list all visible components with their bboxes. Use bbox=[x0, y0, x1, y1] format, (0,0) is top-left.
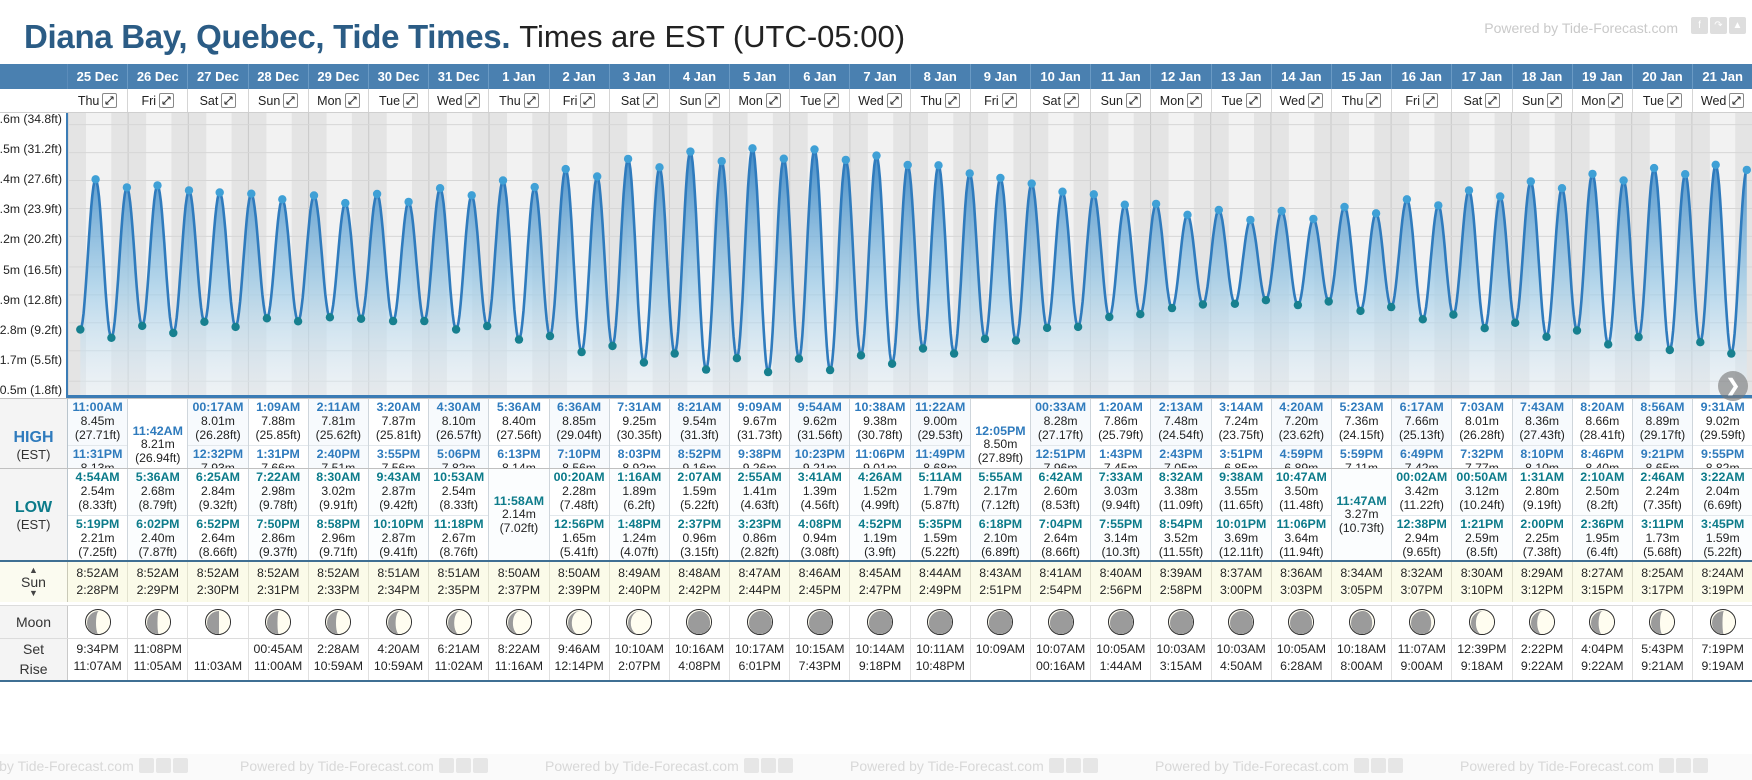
tide-time: 5:36AM bbox=[489, 401, 548, 415]
tide-height-feet: (5.68ft) bbox=[1633, 546, 1692, 560]
date-header-cell[interactable]: 11 Jan bbox=[1091, 64, 1151, 89]
tide-entry: 1:20AM7.86m(25.79ft) bbox=[1091, 399, 1150, 445]
moonrise-time: 7:43PM bbox=[790, 658, 849, 675]
moonset-time: 4:20AM bbox=[369, 641, 428, 658]
expand-icon[interactable] bbox=[1547, 93, 1562, 108]
tide-entry: 9:43AM2.87m(9.42ft) bbox=[369, 469, 428, 515]
tide-height-metres: 2.67m bbox=[429, 532, 488, 546]
weekday-label: Fri bbox=[563, 94, 578, 108]
tide-height-feet: (7.12ft) bbox=[971, 499, 1030, 513]
tide-height-feet: (10.24ft) bbox=[1452, 499, 1511, 513]
tide-time: 10:53AM bbox=[429, 471, 488, 485]
date-header-cell[interactable]: 21 Jan bbox=[1693, 64, 1752, 89]
date-header-cell[interactable]: 17 Jan bbox=[1452, 64, 1512, 89]
tide-time: 7:43AM bbox=[1513, 401, 1572, 415]
tide-entry: 9:38AM3.55m(11.65ft) bbox=[1212, 469, 1271, 515]
sun-cell: 8:25AM3:17PM bbox=[1633, 562, 1693, 602]
moon-phase-cell bbox=[1573, 606, 1633, 638]
tide-time: 12:32PM bbox=[188, 448, 247, 462]
tide-height-feet: (25.62ft) bbox=[309, 429, 368, 443]
tide-height-metres: 1.19m bbox=[850, 532, 909, 546]
moonset-rise-cell: 10:18AM8:00AM bbox=[1332, 639, 1392, 680]
tide-time: 7:10PM bbox=[550, 448, 609, 462]
tide-time: 11:47AM bbox=[1332, 495, 1391, 509]
weekday-header-cell[interactable]: Tue bbox=[1633, 89, 1693, 112]
tide-entry: 9:54AM9.62m(31.56ft) bbox=[790, 399, 849, 445]
y-axis-tick-label: 3.9m (12.8ft) bbox=[0, 293, 62, 307]
weekday-header-cell[interactable]: Mon bbox=[1151, 89, 1211, 112]
tide-time: 12:51PM bbox=[1031, 448, 1090, 462]
date-header-cell[interactable]: 13 Jan bbox=[1212, 64, 1272, 89]
tide-entry: 10:01PM3.69m(12.11ft) bbox=[1212, 515, 1271, 562]
sunrise-time: 8:49AM bbox=[610, 565, 669, 582]
date-header-cell[interactable]: 20 Jan bbox=[1633, 64, 1693, 89]
tide-height-feet: (11.94ft) bbox=[1272, 546, 1331, 560]
expand-icon[interactable] bbox=[283, 93, 298, 108]
moonrise-time: 9:18AM bbox=[1452, 658, 1511, 675]
tide-time: 7:33AM bbox=[1091, 471, 1150, 485]
moon-phase-icon bbox=[145, 609, 171, 635]
weekday-label: Thu bbox=[499, 94, 521, 108]
weekday-header-cell[interactable]: Thu bbox=[911, 89, 971, 112]
expand-icon[interactable] bbox=[1187, 93, 1202, 108]
footer-watermark-text: Powered by Tide-Forecast.com bbox=[240, 758, 489, 774]
tide-entry: 00:17AM8.01m(26.28ft) bbox=[188, 399, 247, 445]
tide-height-metres: 2.68m bbox=[128, 485, 187, 499]
date-header-cell[interactable]: 26 Dec bbox=[128, 64, 188, 89]
weekday-header-cell[interactable]: Wed bbox=[1693, 89, 1752, 112]
weekday-header-cell[interactable]: Sun bbox=[1091, 89, 1151, 112]
sunrise-time: 8:25AM bbox=[1633, 565, 1692, 582]
date-header-cell[interactable]: 10 Jan bbox=[1031, 64, 1091, 89]
sun-cell: 8:45AM2:47PM bbox=[850, 562, 910, 602]
tide-chart: 10.6m (34.8ft)9.5m (31.2ft)8.4m (27.6ft)… bbox=[0, 113, 1752, 398]
tide-time: 2:10AM bbox=[1573, 471, 1632, 485]
watermark-label: Powered by Tide-Forecast.com bbox=[1155, 758, 1349, 774]
weekday-header-cell[interactable]: Mon bbox=[730, 89, 790, 112]
tide-time: 2:13AM bbox=[1151, 401, 1210, 415]
sun-row-label: ▲ Sun ▼ bbox=[0, 562, 68, 602]
tide-height-metres: 2.98m bbox=[249, 485, 308, 499]
date-header-cell[interactable]: 19 Jan bbox=[1573, 64, 1633, 89]
weekday-header-cell[interactable]: Mon bbox=[309, 89, 369, 112]
moonset-rise-cell: 00:45AM11:00AM bbox=[249, 639, 309, 680]
tide-time: 5:23AM bbox=[1332, 401, 1391, 415]
expand-icon[interactable] bbox=[1002, 93, 1017, 108]
weekday-header-cell[interactable]: Tue bbox=[790, 89, 850, 112]
expand-icon[interactable] bbox=[1667, 93, 1682, 108]
tide-height-metres: 7.48m bbox=[1151, 415, 1210, 429]
tide-time: 8:20AM bbox=[1573, 401, 1632, 415]
tide-height-feet: (3.08ft) bbox=[790, 546, 849, 560]
tide-entry: 2:07AM1.59m(5.22ft) bbox=[670, 469, 729, 515]
tide-height-feet: (7.02ft) bbox=[489, 522, 548, 536]
expand-icon[interactable] bbox=[887, 93, 902, 108]
moonset-label: Set bbox=[23, 639, 44, 659]
low-tide-cell: 9:38AM3.55m(11.65ft)10:01PM3.69m(12.11ft… bbox=[1212, 469, 1272, 562]
moonset-time: 10:11AM bbox=[911, 641, 970, 658]
tide-height-feet: (11.55ft) bbox=[1151, 546, 1210, 560]
sun-cell: 8:51AM2:35PM bbox=[429, 562, 489, 602]
sunset-time: 2:31PM bbox=[249, 582, 308, 599]
tide-time: 8:21AM bbox=[670, 401, 729, 415]
tide-entry: 7:50PM2.86m(9.37ft) bbox=[249, 515, 308, 562]
moon-phase-cell bbox=[670, 606, 730, 638]
tide-height-metres: 2.28m bbox=[550, 485, 609, 499]
moonset-time: 5:43PM bbox=[1633, 641, 1692, 658]
moon-row-label: Moon bbox=[0, 606, 68, 638]
sunrise-time: 8:24AM bbox=[1693, 565, 1752, 582]
tide-entry: 4:20AM7.20m(23.62ft) bbox=[1272, 399, 1331, 445]
expand-icon[interactable] bbox=[766, 93, 781, 108]
sunrise-time: 8:39AM bbox=[1151, 565, 1210, 582]
tide-entry: 6:36AM8.85m(29.04ft) bbox=[550, 399, 609, 445]
tide-height-metres: 8.89m bbox=[1633, 415, 1692, 429]
y-axis-tick-label: 6.2m (20.2ft) bbox=[0, 232, 62, 246]
date-header-cell[interactable]: 31 Dec bbox=[429, 64, 489, 89]
expand-icon[interactable] bbox=[345, 93, 360, 108]
date-header-cell[interactable]: 6 Jan bbox=[790, 64, 850, 89]
weekday-header-cell[interactable]: Sat bbox=[1452, 89, 1512, 112]
tide-time: 7:22AM bbox=[249, 471, 308, 485]
tide-entry: 7:55PM3.14m(10.3ft) bbox=[1091, 515, 1150, 562]
expand-icon[interactable] bbox=[102, 93, 117, 108]
tide-height-metres: 7.87m bbox=[369, 415, 428, 429]
low-tide-cell: 4:26AM1.52m(4.99ft)4:52PM1.19m(3.9ft) bbox=[850, 469, 910, 562]
tide-entry: 10:10PM2.87m(9.41ft) bbox=[369, 515, 428, 562]
tide-entry: 2:13AM7.48m(24.54ft) bbox=[1151, 399, 1210, 445]
weekday-label: Tue bbox=[1222, 94, 1243, 108]
tide-time: 3:55PM bbox=[369, 448, 428, 462]
moonset-time: 10:03AM bbox=[1151, 641, 1210, 658]
weekday-header-cell[interactable]: Wed bbox=[850, 89, 910, 112]
low-tide-cell: 6:25AM2.84m(9.32ft)6:52PM2.64m(8.66ft) bbox=[188, 469, 248, 562]
moon-phase-cell bbox=[1452, 606, 1512, 638]
tide-entry: 1:48PM1.24m(4.07ft) bbox=[610, 515, 669, 562]
date-header-cell[interactable]: 18 Jan bbox=[1513, 64, 1573, 89]
tide-time: 2:43PM bbox=[1151, 448, 1210, 462]
tide-height-metres: 8.01m bbox=[1452, 415, 1511, 429]
tide-height-feet: (29.17ft) bbox=[1633, 429, 1692, 443]
moonset-time: 11:07AM bbox=[1392, 641, 1451, 658]
tide-time: 6:36AM bbox=[550, 401, 609, 415]
sun-cell: 8:41AM2:54PM bbox=[1031, 562, 1091, 602]
date-header-cell[interactable]: 28 Dec bbox=[249, 64, 309, 89]
sunrise-time: 8:29AM bbox=[1513, 565, 1572, 582]
sunset-time: 3:07PM bbox=[1392, 582, 1451, 599]
tide-height-feet: (9.94ft) bbox=[1091, 499, 1150, 513]
date-header-cell[interactable]: 5 Jan bbox=[730, 64, 790, 89]
moon-phase-icon bbox=[386, 609, 412, 635]
tide-height-feet: (2.82ft) bbox=[730, 546, 789, 560]
tide-entry: 3:14AM7.24m(23.75ft) bbox=[1212, 399, 1271, 445]
tide-entry: 9:31AM9.02m(29.59ft) bbox=[1693, 399, 1752, 445]
y-axis-tick-label: 1.7m (5.5ft) bbox=[0, 353, 62, 367]
tide-height-metres: 1.59m bbox=[670, 485, 729, 499]
low-tide-cell: 11:47AM3.27m(10.73ft) bbox=[1332, 469, 1392, 562]
high-timezone-label: (EST) bbox=[17, 447, 51, 462]
weekday-header-cell[interactable]: Thu bbox=[489, 89, 549, 112]
expand-icon[interactable] bbox=[945, 93, 960, 108]
facebook-icon bbox=[1659, 758, 1674, 773]
tide-entry: 8:58PM2.96m(9.71ft) bbox=[309, 515, 368, 562]
moon-phase-icon bbox=[1228, 609, 1254, 635]
moonset-time: 11:08PM bbox=[128, 641, 187, 658]
weekday-header-cell[interactable]: Thu bbox=[68, 89, 128, 112]
moonset-time: 2:28AM bbox=[309, 641, 368, 658]
facebook-icon bbox=[1049, 758, 1064, 773]
chart-plot-area[interactable] bbox=[68, 113, 1752, 398]
weekday-header-cell[interactable]: Sat bbox=[188, 89, 248, 112]
tide-height-feet: (29.53ft) bbox=[911, 429, 970, 443]
tide-time: 8:10PM bbox=[1513, 448, 1572, 462]
tide-time: 8:46PM bbox=[1573, 448, 1632, 462]
tide-entry: 00:50AM3.12m(10.24ft) bbox=[1452, 469, 1511, 515]
moon-phase-icon bbox=[1409, 609, 1435, 635]
moonrise-time: 9:19AM bbox=[1693, 658, 1752, 675]
date-header-cell[interactable]: 7 Jan bbox=[850, 64, 910, 89]
tide-height-feet: (8.53ft) bbox=[1031, 499, 1090, 513]
sun-cell: 8:51AM2:34PM bbox=[369, 562, 429, 602]
tide-height-feet: (30.78ft) bbox=[850, 429, 909, 443]
tide-height-feet: (25.79ft) bbox=[1091, 429, 1150, 443]
tide-time: 8:30AM bbox=[309, 471, 368, 485]
date-header-cell[interactable]: 16 Jan bbox=[1392, 64, 1452, 89]
weekday-header-cell[interactable]: Fri bbox=[1392, 89, 1452, 112]
tide-height-feet: (11.22ft) bbox=[1392, 499, 1451, 513]
weekday-header-cell[interactable]: Sat bbox=[1031, 89, 1091, 112]
date-header-cell[interactable]: 2 Jan bbox=[550, 64, 610, 89]
moonrise-time: 8:00AM bbox=[1332, 658, 1391, 675]
weekday-header-cell[interactable]: Wed bbox=[1272, 89, 1332, 112]
sunrise-time: 8:48AM bbox=[670, 565, 729, 582]
tide-time: 2:55AM bbox=[730, 471, 789, 485]
weekday-header-cell[interactable]: Fri bbox=[128, 89, 188, 112]
weekday-header-cell[interactable]: Sun bbox=[1513, 89, 1573, 112]
low-tide-cell: 6:42AM2.60m(8.53ft)7:04PM2.64m(8.66ft) bbox=[1031, 469, 1091, 562]
date-header-cell[interactable]: 9 Jan bbox=[971, 64, 1031, 89]
date-header-row: 25 Dec26 Dec27 Dec28 Dec29 Dec30 Dec31 D… bbox=[0, 64, 1752, 89]
moon-phase-icon bbox=[1529, 609, 1555, 635]
moonset-time: 10:09AM bbox=[971, 641, 1030, 658]
tide-height-feet: (6.4ft) bbox=[1573, 546, 1632, 560]
date-header-cell[interactable]: 14 Jan bbox=[1272, 64, 1332, 89]
facebook-icon[interactable]: f bbox=[1691, 17, 1708, 34]
moonrise-time: 10:48PM bbox=[911, 658, 970, 675]
date-header-cell[interactable]: 1 Jan bbox=[489, 64, 549, 89]
moon-phase-icon bbox=[1168, 609, 1194, 635]
weekday-header-cell[interactable]: Fri bbox=[971, 89, 1031, 112]
expand-icon[interactable] bbox=[643, 93, 658, 108]
watermark-label: Powered by Tide-Forecast.com bbox=[545, 758, 739, 774]
moon-phase-cell bbox=[1633, 606, 1693, 638]
tide-time: 9:38AM bbox=[1212, 471, 1271, 485]
share-badges[interactable]: f ↷ ▲ bbox=[1691, 17, 1746, 34]
weekday-header-cell[interactable]: Thu bbox=[1332, 89, 1392, 112]
tide-entry: 3:41AM1.39m(4.56ft) bbox=[790, 469, 849, 515]
date-header-cell[interactable]: 30 Dec bbox=[369, 64, 429, 89]
expand-icon[interactable] bbox=[1126, 93, 1141, 108]
tide-height-feet: (27.89ft) bbox=[971, 452, 1030, 466]
weekday-label: Fri bbox=[141, 94, 156, 108]
footer-watermark-text: Powered by Tide-Forecast.com bbox=[1155, 758, 1404, 774]
sunset-time: 2:29PM bbox=[128, 582, 187, 599]
high-label: HIGH bbox=[14, 429, 54, 447]
date-header-cell[interactable]: 3 Jan bbox=[610, 64, 670, 89]
tide-time: 10:38AM bbox=[850, 401, 909, 415]
tide-entry: 10:38AM9.38m(30.78ft) bbox=[850, 399, 909, 445]
low-label: LOW bbox=[15, 499, 52, 517]
weekday-header-cell[interactable]: Tue bbox=[1212, 89, 1272, 112]
low-tide-cell: 00:50AM3.12m(10.24ft)1:21PM2.59m(8.5ft) bbox=[1452, 469, 1512, 562]
moon-phase-cell bbox=[850, 606, 910, 638]
tide-time: 6:49PM bbox=[1392, 448, 1451, 462]
sunset-time: 2:42PM bbox=[670, 582, 729, 599]
moonset-rise-cell: 12:39PM9:18AM bbox=[1452, 639, 1512, 680]
weekday-label: Tue bbox=[800, 94, 821, 108]
expand-icon[interactable] bbox=[159, 93, 174, 108]
tide-height-feet: (5.22ft) bbox=[911, 546, 970, 560]
tide-entry: 6:18PM2.10m(6.89ft) bbox=[971, 515, 1030, 562]
sunset-time: 2:39PM bbox=[550, 582, 609, 599]
tide-time: 4:26AM bbox=[850, 471, 909, 485]
alert-icon[interactable]: ▲ bbox=[1729, 17, 1746, 34]
tide-height-metres: 2.87m bbox=[369, 532, 428, 546]
weekday-header-cell[interactable]: Sun bbox=[670, 89, 730, 112]
expand-icon[interactable] bbox=[1246, 93, 1261, 108]
tide-height-feet: (28.41ft) bbox=[1573, 429, 1632, 443]
sun-cell: 8:39AM2:58PM bbox=[1151, 562, 1211, 602]
low-tide-cell: 2:10AM2.50m(8.2ft)2:36PM1.95m(6.4ft) bbox=[1573, 469, 1633, 562]
tide-height-feet: (8.66ft) bbox=[1031, 546, 1090, 560]
moonset-time: 10:17AM bbox=[730, 641, 789, 658]
moonset-time: 4:04PM bbox=[1573, 641, 1632, 658]
tide-time: 12:56PM bbox=[550, 518, 609, 532]
tide-height-metres: 8.85m bbox=[550, 415, 609, 429]
moon-phase-cell bbox=[1693, 606, 1752, 638]
date-header-cell[interactable]: 12 Jan bbox=[1151, 64, 1211, 89]
tide-time: 7:32PM bbox=[1452, 448, 1511, 462]
tide-height-metres: 7.36m bbox=[1332, 415, 1391, 429]
tide-height-feet: (11.48ft) bbox=[1272, 499, 1331, 513]
tide-height-feet: (4.63ft) bbox=[730, 499, 789, 513]
weekday-label: Sun bbox=[258, 94, 280, 108]
expand-icon[interactable] bbox=[824, 93, 839, 108]
expand-icon[interactable] bbox=[403, 93, 418, 108]
sunset-time: 2:35PM bbox=[429, 582, 488, 599]
moon-phase-icon bbox=[927, 609, 953, 635]
moonrise-time: 4:50AM bbox=[1212, 658, 1271, 675]
weekday-header-cell[interactable]: Sat bbox=[610, 89, 670, 112]
tide-entry: 12:05PM8.50m(27.89ft) bbox=[971, 423, 1030, 469]
tide-height-metres: 7.88m bbox=[249, 415, 308, 429]
tide-time: 9:31AM bbox=[1693, 401, 1752, 415]
expand-icon[interactable] bbox=[705, 93, 720, 108]
tide-height-feet: (31.3ft) bbox=[670, 429, 729, 443]
tide-height-metres: 2.86m bbox=[249, 532, 308, 546]
weekday-label: Mon bbox=[317, 94, 341, 108]
moon-phase-icon bbox=[867, 609, 893, 635]
expand-icon[interactable] bbox=[1308, 93, 1323, 108]
expand-icon[interactable] bbox=[1729, 93, 1744, 108]
sunrise-time: 8:34AM bbox=[1332, 565, 1391, 582]
moonset-rise-cell: 4:20AM10:59AM bbox=[369, 639, 429, 680]
weekday-label: Thu bbox=[920, 94, 942, 108]
weekday-header-cell[interactable]: Tue bbox=[369, 89, 429, 112]
tide-height-feet: (3.15ft) bbox=[670, 546, 729, 560]
tide-height-feet: (27.71ft) bbox=[68, 429, 127, 443]
date-header-cell[interactable]: 29 Dec bbox=[309, 64, 369, 89]
moonrise-time: 6:28AM bbox=[1272, 658, 1331, 675]
weekday-header-cell[interactable]: Sun bbox=[249, 89, 309, 112]
expand-icon[interactable] bbox=[221, 93, 236, 108]
tide-entry: 6:17AM7.66m(25.13ft) bbox=[1392, 399, 1451, 445]
moonset-time: 2:22PM bbox=[1513, 641, 1572, 658]
share-icon bbox=[1066, 758, 1081, 773]
moonset-time: 7:19PM bbox=[1693, 641, 1752, 658]
tide-time: 11:06PM bbox=[850, 448, 909, 462]
tide-time: 00:20AM bbox=[550, 471, 609, 485]
share-icon[interactable]: ↷ bbox=[1710, 17, 1727, 34]
date-header-cell[interactable]: 4 Jan bbox=[670, 64, 730, 89]
expand-icon[interactable] bbox=[465, 93, 480, 108]
moonset-rise-cell: 10:15AM7:43PM bbox=[790, 639, 850, 680]
expand-icon[interactable] bbox=[1608, 93, 1623, 108]
tide-height-metres: 7.86m bbox=[1091, 415, 1150, 429]
date-header-cell[interactable]: 25 Dec bbox=[68, 64, 128, 89]
tide-entry: 11:06PM3.64m(11.94ft) bbox=[1272, 515, 1331, 562]
moonrise-time: 9:00AM bbox=[1392, 658, 1451, 675]
tide-height-feet: (29.59ft) bbox=[1693, 429, 1752, 443]
date-header-cell[interactable]: 27 Dec bbox=[188, 64, 248, 89]
moon-phase-cell bbox=[971, 606, 1031, 638]
sunrise-time: 8:45AM bbox=[850, 565, 909, 582]
moonset-rise-cell: 11:07AM9:00AM bbox=[1392, 639, 1452, 680]
moon-phase-icon bbox=[1108, 609, 1134, 635]
tide-entry: 2:11AM7.81m(25.62ft) bbox=[309, 399, 368, 445]
expand-icon[interactable] bbox=[524, 93, 539, 108]
weekday-header-cell[interactable]: Mon bbox=[1573, 89, 1633, 112]
expand-icon[interactable] bbox=[1366, 93, 1381, 108]
tide-height-metres: 2.17m bbox=[971, 485, 1030, 499]
moon-phase-icon bbox=[325, 609, 351, 635]
scroll-right-button[interactable]: ❯ bbox=[1718, 371, 1748, 401]
weekday-header-cell[interactable]: Wed bbox=[429, 89, 489, 112]
expand-icon[interactable] bbox=[1064, 93, 1079, 108]
tide-height-metres: 9.67m bbox=[730, 415, 789, 429]
expand-icon[interactable] bbox=[1485, 93, 1500, 108]
share-icon bbox=[456, 758, 471, 773]
date-header-cell[interactable]: 15 Jan bbox=[1332, 64, 1392, 89]
moonset-time: 00:45AM bbox=[249, 641, 308, 658]
moonset-time: 8:22AM bbox=[489, 641, 548, 658]
moonset-time: 12:39PM bbox=[1452, 641, 1511, 658]
expand-icon[interactable] bbox=[1423, 93, 1438, 108]
footer-watermark: Powered by Tide-Forecast.com Powered by … bbox=[0, 754, 1752, 780]
tide-height-metres: 7.20m bbox=[1272, 415, 1331, 429]
tide-entry: 4:52PM1.19m(3.9ft) bbox=[850, 515, 909, 562]
weekday-label: Thu bbox=[1342, 94, 1364, 108]
y-axis-tick-label: 9.5m (31.2ft) bbox=[0, 142, 62, 156]
tide-time: 4:08PM bbox=[790, 518, 849, 532]
date-header-cell[interactable]: 8 Jan bbox=[911, 64, 971, 89]
expand-icon[interactable] bbox=[580, 93, 595, 108]
tide-time: 9:54AM bbox=[790, 401, 849, 415]
weekday-header-cell[interactable]: Fri bbox=[550, 89, 610, 112]
low-tide-cell: 9:43AM2.87m(9.42ft)10:10PM2.87m(9.41ft) bbox=[369, 469, 429, 562]
tide-height-feet: (5.41ft) bbox=[550, 546, 609, 560]
moon-phase-icon bbox=[1048, 609, 1074, 635]
